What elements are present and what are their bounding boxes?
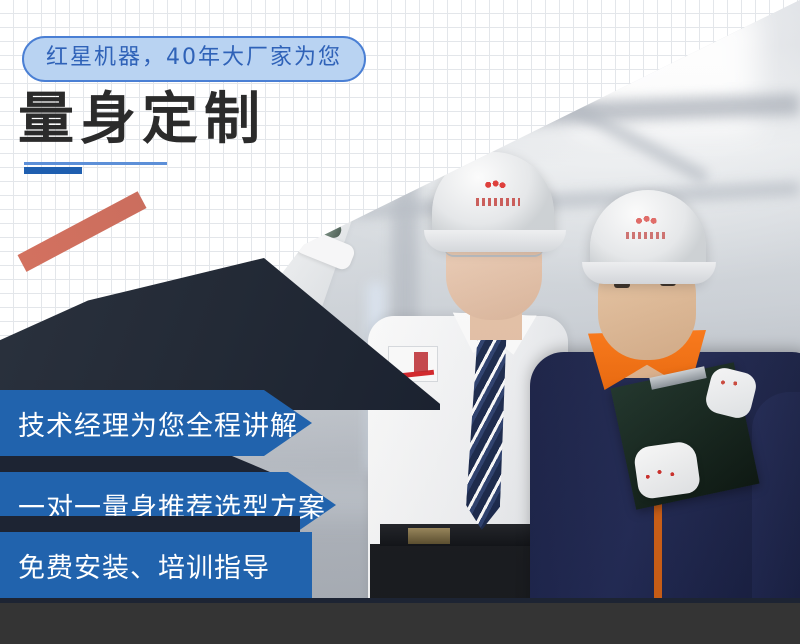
promo-banner: 红星机器，40年大厂家为您 量身定制 技术经理为您全程讲解 一对一量身推荐选型方… (0, 0, 800, 644)
left-worker-hard-hat-brim (424, 230, 566, 252)
bullet-bar-1: 技术经理为您全程讲解 (0, 390, 312, 456)
eyebrow-badge: 红星机器，40年大厂家为您 (22, 36, 366, 82)
right-worker-hard-hat-logo-icon (630, 212, 662, 232)
bullet-bar-1-label: 技术经理为您全程讲解 (0, 404, 298, 443)
right-worker-hard-hat-brandmark (626, 232, 668, 239)
title-underline-thin (24, 162, 167, 165)
bullet-bar-divider-2 (0, 516, 300, 532)
left-worker-hard-hat-brandmark (476, 198, 520, 206)
left-worker-belt-buckle (408, 528, 450, 544)
bullet-bar-divider-1 (0, 456, 270, 472)
page-title: 量身定制 (18, 92, 266, 148)
bullet-bar-3-label: 免费安装、培训指导 (0, 546, 270, 585)
left-worker-badge-logo (414, 352, 428, 372)
right-worker-jacket-sleeve (752, 392, 800, 622)
left-worker-hard-hat-logo-icon (478, 176, 512, 198)
bottom-band-top-edge (0, 598, 800, 603)
right-worker-hard-hat-brim (582, 262, 716, 284)
bottom-band (0, 598, 800, 644)
bullet-bar-3: 免费安装、培训指导 (0, 532, 312, 598)
title-underline-thick (24, 167, 82, 174)
left-worker-belt (380, 524, 530, 546)
